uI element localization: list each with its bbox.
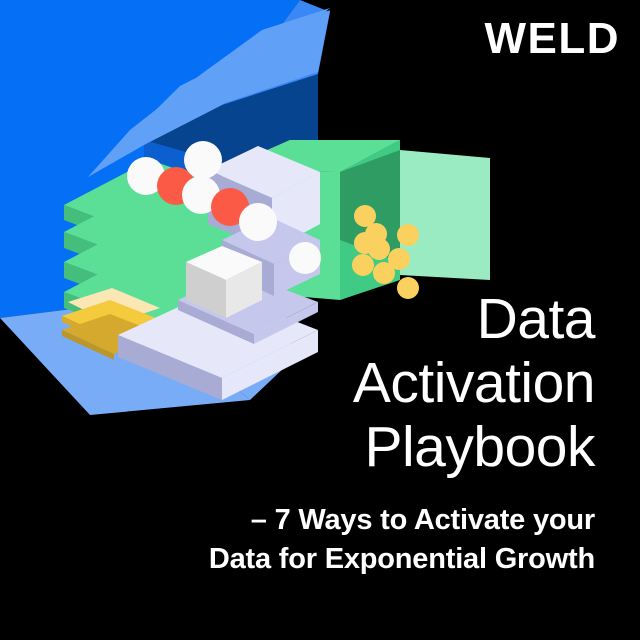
cover-canvas: WELD Data Activation Playbook – 7 Ways t… bbox=[0, 0, 640, 640]
gold-coin bbox=[397, 224, 419, 246]
gold-coin bbox=[368, 238, 390, 260]
title-line-2: Activation bbox=[35, 352, 595, 416]
title-line-1: Data bbox=[35, 288, 595, 352]
sphere-white-small bbox=[289, 242, 321, 274]
title-line-3: Playbook bbox=[35, 416, 595, 480]
page-title: Data Activation Playbook bbox=[35, 288, 595, 479]
weld-logo: WELD bbox=[484, 17, 620, 61]
green-tunnel-far-opening bbox=[400, 150, 490, 280]
page-subtitle: – 7 Ways to Activate your Data for Expon… bbox=[35, 501, 595, 578]
gold-coin bbox=[352, 254, 374, 276]
sphere-white bbox=[184, 141, 222, 179]
sphere-white bbox=[239, 203, 277, 241]
subtitle-line-2: Data for Exponential Growth bbox=[35, 540, 595, 579]
gold-coin bbox=[373, 262, 395, 284]
subtitle-line-1: – 7 Ways to Activate your bbox=[35, 501, 595, 540]
cover-text-block: Data Activation Playbook – 7 Ways to Act… bbox=[35, 288, 595, 579]
